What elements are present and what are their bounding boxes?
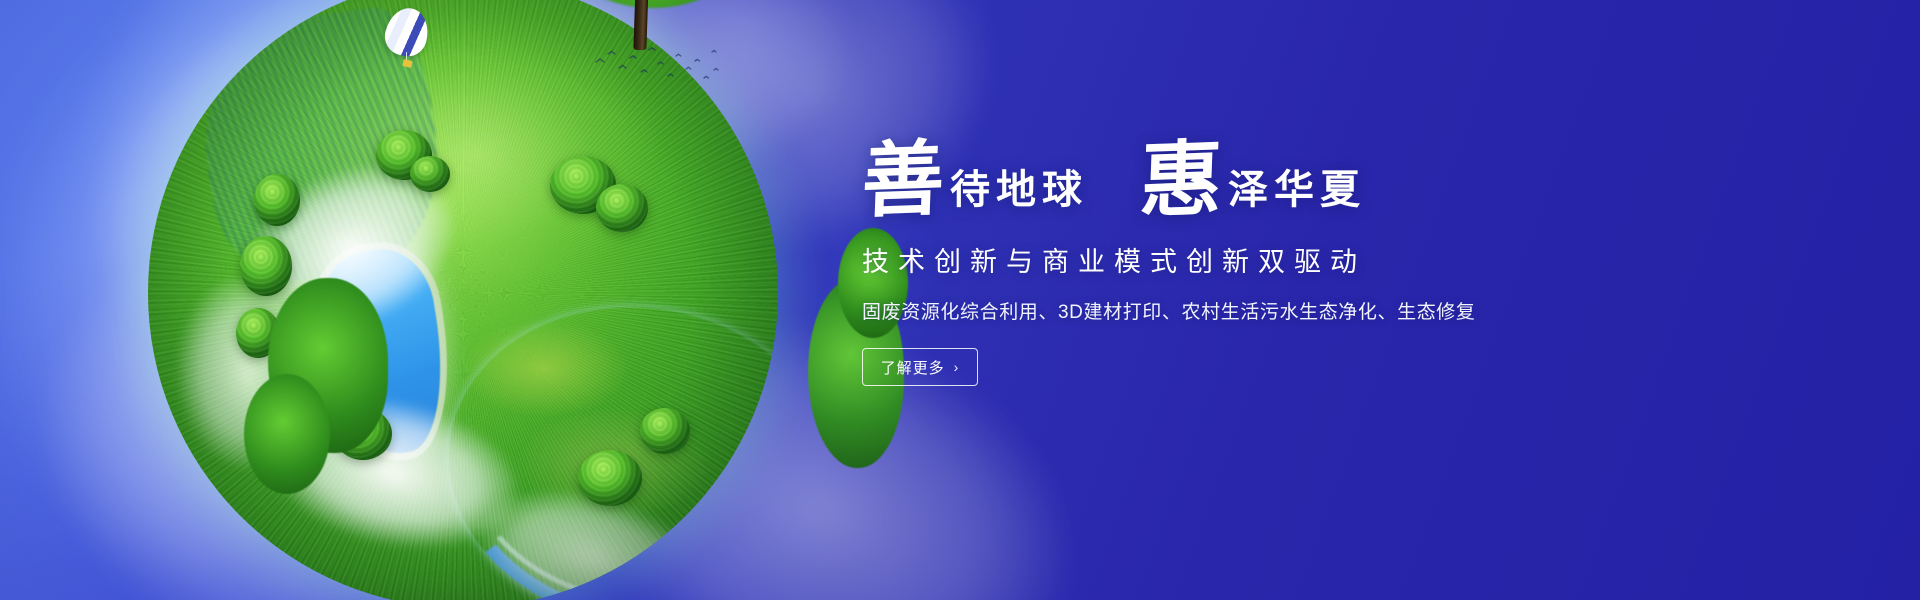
headline-text-zehuaxia: 泽华夏	[1228, 170, 1366, 218]
birds-flock-icon	[592, 42, 722, 88]
learn-more-button[interactable]: 了解更多 ›	[862, 348, 978, 386]
hot-air-balloon-icon	[386, 8, 428, 70]
balloon-envelope	[381, 4, 433, 61]
balloon-basket	[402, 59, 412, 68]
headline-char-hui: 惠	[1139, 141, 1230, 219]
headline-char-shan: 善	[861, 141, 952, 219]
planet-edge-shading	[148, 0, 778, 600]
chevron-right-icon: ›	[954, 360, 960, 374]
little-planet-artwork	[148, 0, 778, 600]
planet-sphere	[148, 0, 778, 600]
headline-text-daidiqiu: 待地球	[950, 170, 1088, 218]
hero-content: 善 待地球 惠 泽华夏 技术创新与商业模式创新双驱动 固废资源化综合利用、3D建…	[862, 126, 1562, 386]
hero-banner: 善 待地球 惠 泽华夏 技术创新与商业模式创新双驱动 固废资源化综合利用、3D建…	[0, 0, 1920, 600]
page-title: 善 待地球 惠 泽华夏	[862, 126, 1562, 218]
subtitle: 技术创新与商业模式创新双驱动	[862, 240, 1562, 279]
foreground-tree-icon	[244, 374, 330, 494]
description: 固废资源化综合利用、3D建材打印、农村生活污水生态净化、生态修复	[862, 297, 1562, 324]
learn-more-label: 了解更多	[881, 357, 945, 378]
